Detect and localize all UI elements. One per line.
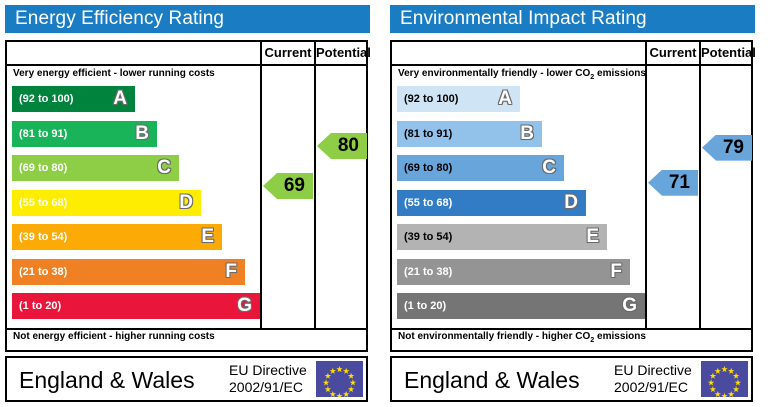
energy-header-row: Current Potential — [7, 42, 366, 64]
environmental-bar-c-range: (69 to 80) — [404, 162, 452, 174]
energy-bar-e: (39 to 54) E — [12, 224, 222, 250]
energy-bar-c-letter: C — [157, 157, 171, 179]
epc-rating-charts: Energy Efficiency Rating Current Potenti… — [0, 0, 770, 407]
energy-bar-d-range: (55 to 68) — [19, 197, 67, 209]
environmental-bar-d-range: (55 to 68) — [404, 197, 452, 209]
environmental-caption-top-pre: Very environmentally friendly - lower CO — [398, 68, 590, 79]
environmental-potential-arrow: 79 — [702, 135, 752, 161]
energy-directive-line2: 2002/91/EC — [229, 379, 307, 396]
energy-bar-e-range: (39 to 54) — [19, 231, 67, 243]
environmental-bar-a-range: (92 to 100) — [404, 93, 458, 105]
energy-bar-a-letter: A — [113, 88, 127, 110]
environmental-bar-d: (55 to 68) D — [397, 190, 586, 216]
energy-directive-line1: EU Directive — [229, 362, 307, 379]
environmental-bars: (92 to 100) A (81 to 91) B (69 to 80) C … — [392, 84, 645, 328]
environmental-directive-line2: 2002/91/EC — [614, 379, 692, 396]
energy-efficiency-banner: Energy Efficiency Rating — [5, 5, 370, 33]
energy-divider-current — [260, 42, 262, 330]
environmental-bar-b-range: (81 to 91) — [404, 128, 452, 140]
energy-bar-c-range: (69 to 80) — [19, 162, 67, 174]
environmental-bar-f-letter: F — [610, 261, 622, 283]
environmental-divider-potential — [699, 42, 701, 330]
environmental-caption-top: Very environmentally friendly - lower CO… — [398, 68, 646, 81]
environmental-bar-b: (81 to 91) B — [397, 121, 542, 147]
environmental-divider-current — [645, 42, 647, 330]
environmental-footer-region: England & Wales — [404, 367, 580, 394]
eu-flag-icon — [316, 361, 363, 397]
energy-bar-b: (81 to 91) B — [12, 121, 157, 147]
energy-bar-f-letter: F — [225, 261, 237, 283]
energy-bars: (92 to 100) A (81 to 91) B (69 to 80) C … — [7, 84, 260, 328]
energy-bar-b-range: (81 to 91) — [19, 128, 67, 140]
energy-bar-a-range: (92 to 100) — [19, 93, 73, 105]
energy-bar-d: (55 to 68) D — [12, 190, 201, 216]
environmental-header-row: Current Potential — [392, 42, 751, 64]
energy-caption-rule — [7, 328, 366, 330]
energy-efficiency-panel: Energy Efficiency Rating Current Potenti… — [5, 0, 375, 407]
environmental-caption-bottom: Not environmentally friendly - higher CO… — [398, 331, 646, 344]
environmental-caption-top-post: emissions — [594, 68, 646, 79]
environmental-bar-c: (69 to 80) C — [397, 155, 564, 181]
environmental-bar-e-range: (39 to 54) — [404, 231, 452, 243]
environmental-impact-title: Environmental Impact Rating — [400, 8, 647, 30]
energy-header-potential: Potential — [316, 44, 368, 62]
energy-footer-directive: EU Directive 2002/91/EC — [229, 362, 307, 396]
energy-bar-d-letter: D — [179, 192, 193, 214]
energy-bar-f-range: (21 to 38) — [19, 266, 67, 278]
environmental-bar-f: (21 to 38) F — [397, 259, 630, 285]
environmental-caption-rule — [392, 328, 751, 330]
energy-bar-e-letter: E — [201, 226, 214, 248]
energy-bar-c: (69 to 80) C — [12, 155, 179, 181]
environmental-caption-bottom-pre: Not environmentally friendly - higher CO — [398, 331, 590, 342]
energy-footer: England & Wales EU Directive 2002/91/EC — [5, 356, 368, 402]
environmental-header-potential: Potential — [701, 44, 753, 62]
environmental-header-rule — [392, 64, 751, 66]
energy-bar-a: (92 to 100) A — [12, 86, 135, 112]
environmental-bar-c-letter: C — [542, 157, 556, 179]
energy-efficiency-table: Current Potential Very energy efficient … — [5, 40, 368, 352]
energy-bar-g-range: (1 to 20) — [19, 300, 61, 312]
environmental-impact-table: Current Potential Very environmentally f… — [390, 40, 753, 352]
environmental-bar-f-range: (21 to 38) — [404, 266, 452, 278]
eu-flag-icon — [701, 361, 748, 397]
energy-header-current: Current — [262, 44, 314, 62]
energy-current-arrow: 69 — [263, 173, 313, 199]
energy-bar-g-letter: G — [237, 295, 252, 317]
environmental-caption-bottom-post: emissions — [594, 331, 646, 342]
environmental-bar-g-range: (1 to 20) — [404, 300, 446, 312]
environmental-bar-e-letter: E — [586, 226, 599, 248]
environmental-bar-e: (39 to 54) E — [397, 224, 607, 250]
environmental-header-current: Current — [647, 44, 699, 62]
environmental-impact-banner: Environmental Impact Rating — [390, 5, 755, 33]
energy-caption-top: Very energy efficient - lower running co… — [13, 68, 215, 79]
energy-footer-region: England & Wales — [19, 367, 195, 394]
energy-bar-f: (21 to 38) F — [12, 259, 245, 285]
environmental-impact-panel: Environmental Impact Rating Current Pote… — [390, 0, 760, 407]
environmental-bar-g: (1 to 20) G — [397, 293, 645, 319]
environmental-bar-a: (92 to 100) A — [397, 86, 520, 112]
environmental-footer: England & Wales EU Directive 2002/91/EC — [390, 356, 753, 402]
energy-divider-potential — [314, 42, 316, 330]
energy-header-rule — [7, 64, 366, 66]
environmental-directive-line1: EU Directive — [614, 362, 692, 379]
environmental-bar-a-letter: A — [498, 88, 512, 110]
environmental-bar-d-letter: D — [564, 192, 578, 214]
environmental-bar-g-letter: G — [622, 295, 637, 317]
energy-bar-g: (1 to 20) G — [12, 293, 260, 319]
energy-potential-arrow: 80 — [317, 133, 367, 159]
energy-efficiency-title: Energy Efficiency Rating — [15, 8, 224, 30]
energy-bar-b-letter: B — [135, 123, 149, 145]
environmental-footer-directive: EU Directive 2002/91/EC — [614, 362, 692, 396]
environmental-current-arrow: 71 — [648, 170, 698, 196]
energy-caption-bottom: Not energy efficient - higher running co… — [13, 331, 215, 342]
environmental-bar-b-letter: B — [520, 123, 534, 145]
